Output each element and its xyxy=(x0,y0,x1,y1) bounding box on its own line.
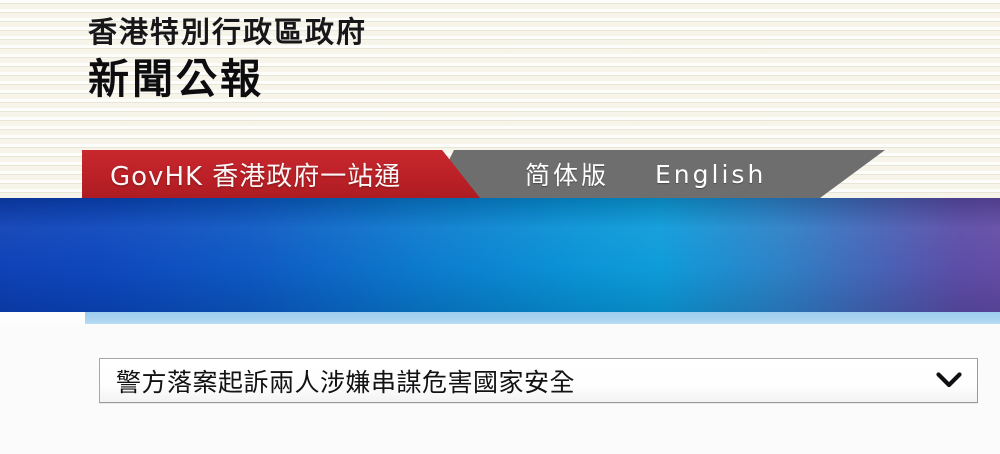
page-root: 香港特別行政區政府 新聞公報 简体版 English GovHK 香港政府一站通… xyxy=(0,0,1000,454)
navigation-bar: 简体版 English GovHK 香港政府一站通 xyxy=(0,150,1000,200)
chevron-down-icon[interactable] xyxy=(921,372,977,389)
tab-govhk-label[interactable]: GovHK 香港政府一站通 xyxy=(110,150,401,198)
site-header: 香港特別行政區政府 新聞公報 简体版 English GovHK 香港政府一站通 xyxy=(0,0,1000,200)
page-title: 新聞公報 xyxy=(88,54,367,105)
tab-english[interactable]: English xyxy=(655,160,766,189)
government-name: 香港特別行政區政府 xyxy=(88,14,367,50)
banner-accent-strip xyxy=(85,312,1000,324)
language-links: 简体版 English xyxy=(525,150,766,198)
banner-sheen-overlay xyxy=(0,198,1000,312)
main-content: 警方落案起訴兩人涉嫌串謀危害國家安全 xyxy=(0,324,1000,454)
header-title-group: 香港特別行政區政府 新聞公報 xyxy=(88,14,367,106)
news-headline-select[interactable]: 警方落案起訴兩人涉嫌串謀危害國家安全 xyxy=(99,358,978,403)
tab-simplified-chinese[interactable]: 简体版 xyxy=(525,156,609,192)
hero-banner xyxy=(0,198,1000,312)
news-headline-select-value: 警方落案起訴兩人涉嫌串謀危害國家安全 xyxy=(100,363,575,399)
